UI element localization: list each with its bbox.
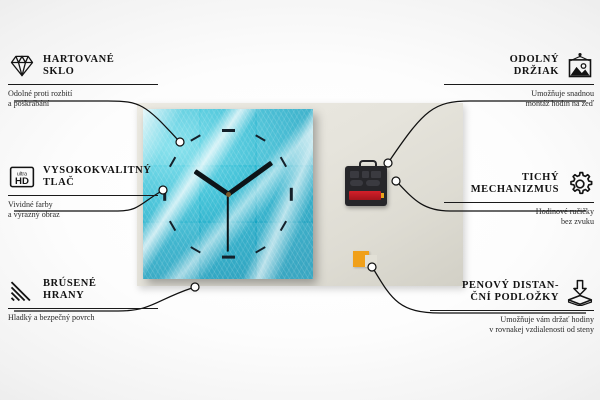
feature-title: PENOVÝ DISTAN- ČNÍ PODLOŽKY [462, 280, 559, 305]
mechanism-detail [371, 171, 381, 178]
feature-desc-line: bez zvuku [444, 217, 594, 227]
feature-divider [8, 84, 158, 85]
clock-second-hand [227, 194, 229, 252]
clock-tick [163, 187, 166, 200]
feature-header: BRÚSENÉ HRANY [8, 276, 158, 304]
clock-tick [222, 256, 235, 259]
clock-center-hub [226, 192, 231, 197]
feature-durable-hanger: ODOLNÝ DRŽIAK Umožňuje snadnou montáž ho… [444, 52, 594, 110]
feature-beveled-edges: BRÚSENÉ HRANY Hladký a bezpečný povrch [8, 276, 158, 323]
clock-tick [222, 129, 235, 132]
foam-spacer-pad-secondary [365, 255, 377, 267]
feature-desc-line: montáž hodin na zeď [444, 99, 594, 109]
mechanism-detail [366, 180, 380, 186]
feature-silent-mechanism: TICHÝ MECHANIZMUS Hodinové ručičky bez z… [444, 170, 594, 228]
beveled-edges-icon [8, 276, 36, 304]
ultra-hd-icon: ultra HD [8, 163, 36, 191]
mechanism-battery [349, 191, 381, 200]
feature-high-quality-print: ultra HD VYSOKOKVALITNÝ TLAČ Vividné far… [8, 163, 158, 221]
feature-desc-line: a výrazný obraz [8, 210, 158, 220]
feature-desc-line: Vividné farby [8, 200, 158, 210]
feature-desc-line: Umožňuje snadnou [444, 89, 594, 99]
mechanism-body [345, 166, 387, 206]
feature-tempered-glass: HARTOVANÉ SKLO Odolné proti rozbití a po… [8, 52, 158, 110]
feature-desc-line: a poškrábání [8, 99, 158, 109]
infographic-canvas: HARTOVANÉ SKLO Odolné proti rozbití a po… [0, 0, 600, 400]
glass-wall-clock [143, 109, 313, 279]
battery-terminal [381, 193, 384, 198]
feature-foam-spacers: PENOVÝ DISTAN- ČNÍ PODLOŽKY Umožňuje vám… [430, 278, 594, 336]
gear-icon [566, 170, 594, 198]
feature-divider [444, 84, 594, 85]
feature-header: PENOVÝ DISTAN- ČNÍ PODLOŽKY [430, 278, 594, 306]
feature-divider [8, 308, 158, 309]
feature-title: BRÚSENÉ HRANY [43, 278, 96, 303]
mechanism-detail [350, 171, 359, 178]
feature-desc-line: Hodinové ručičky [444, 207, 594, 217]
product-photo [137, 103, 463, 286]
clock-tick [290, 187, 293, 200]
feature-desc-line: v rovnakej vzdialenosti od steny [430, 325, 594, 335]
feature-desc-line: Hladký a bezpečný povrch [8, 313, 158, 323]
picture-hanger-icon [566, 52, 594, 80]
feature-header: HARTOVANÉ SKLO [8, 52, 158, 80]
feature-title: TICHÝ MECHANIZMUS [471, 172, 559, 197]
feature-divider [8, 195, 158, 196]
feature-divider [444, 202, 594, 203]
diamond-icon [8, 52, 36, 80]
feature-desc-line: Odolné proti rozbití [8, 89, 158, 99]
feature-header: ultra HD VYSOKOKVALITNÝ TLAČ [8, 163, 158, 191]
feature-title: HARTOVANÉ SKLO [43, 54, 114, 79]
mechanism-detail [350, 180, 363, 186]
foam-spacer-icon [566, 278, 594, 306]
clock-mechanism [345, 166, 387, 206]
svg-text:HD: HD [15, 176, 29, 187]
feature-header: ODOLNÝ DRŽIAK [444, 52, 594, 80]
feature-divider [430, 310, 594, 311]
feature-header: TICHÝ MECHANIZMUS [444, 170, 594, 198]
feature-title: ODOLNÝ DRŽIAK [510, 54, 559, 79]
mechanism-detail [362, 171, 369, 178]
feature-title: VYSOKOKVALITNÝ TLAČ [43, 165, 151, 190]
feature-desc-line: Umožňuje vám držať hodiny [430, 315, 594, 325]
